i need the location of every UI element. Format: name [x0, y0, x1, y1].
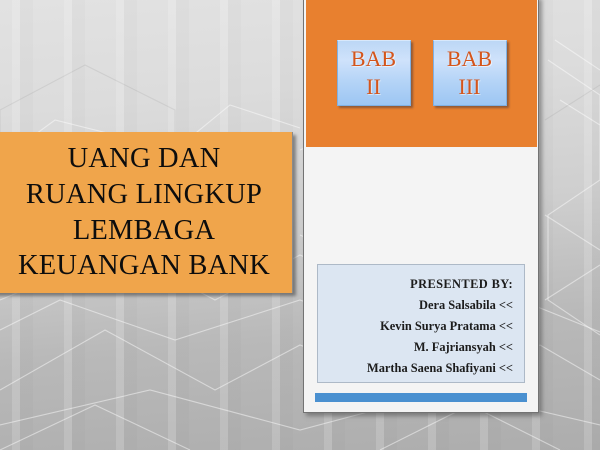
- chapter-button-bab-ii-line1: BAB: [351, 45, 396, 73]
- slide-title-box: UANG DAN RUANG LINGKUP LEMBAGA KEUANGAN …: [0, 132, 293, 293]
- chapter-button-bab-iii-line2: III: [459, 73, 481, 101]
- presenter-name-4: Martha Saena Shafiyani <<: [326, 358, 513, 379]
- presenter-name-3: M. Fajriansyah <<: [326, 337, 513, 358]
- presenter-name-1: Dera Salsabila <<: [326, 295, 513, 316]
- page-title: UANG DAN RUANG LINGKUP LEMBAGA KEUANGAN …: [0, 141, 292, 285]
- chapter-button-bab-iii-line1: BAB: [447, 45, 492, 73]
- presentation-slide: UANG DAN RUANG LINGKUP LEMBAGA KEUANGAN …: [0, 0, 600, 450]
- presenter-name-2: Kevin Surya Pratama <<: [326, 316, 513, 337]
- accent-bar: [315, 393, 527, 402]
- chapter-button-row: BAB II BAB III: [306, 0, 537, 147]
- presented-by-box: PRESENTED BY: Dera Salsabila << Kevin Su…: [317, 264, 525, 383]
- orange-header-band: BAB II BAB III: [306, 0, 537, 147]
- presented-by-heading: PRESENTED BY:: [326, 274, 513, 295]
- chapter-button-bab-iii[interactable]: BAB III: [433, 40, 507, 106]
- chapter-button-bab-ii[interactable]: BAB II: [337, 40, 411, 106]
- right-content-panel: BAB II BAB III PRESENTED BY: Dera Salsab…: [303, 0, 539, 413]
- chapter-button-bab-ii-line2: II: [366, 73, 381, 101]
